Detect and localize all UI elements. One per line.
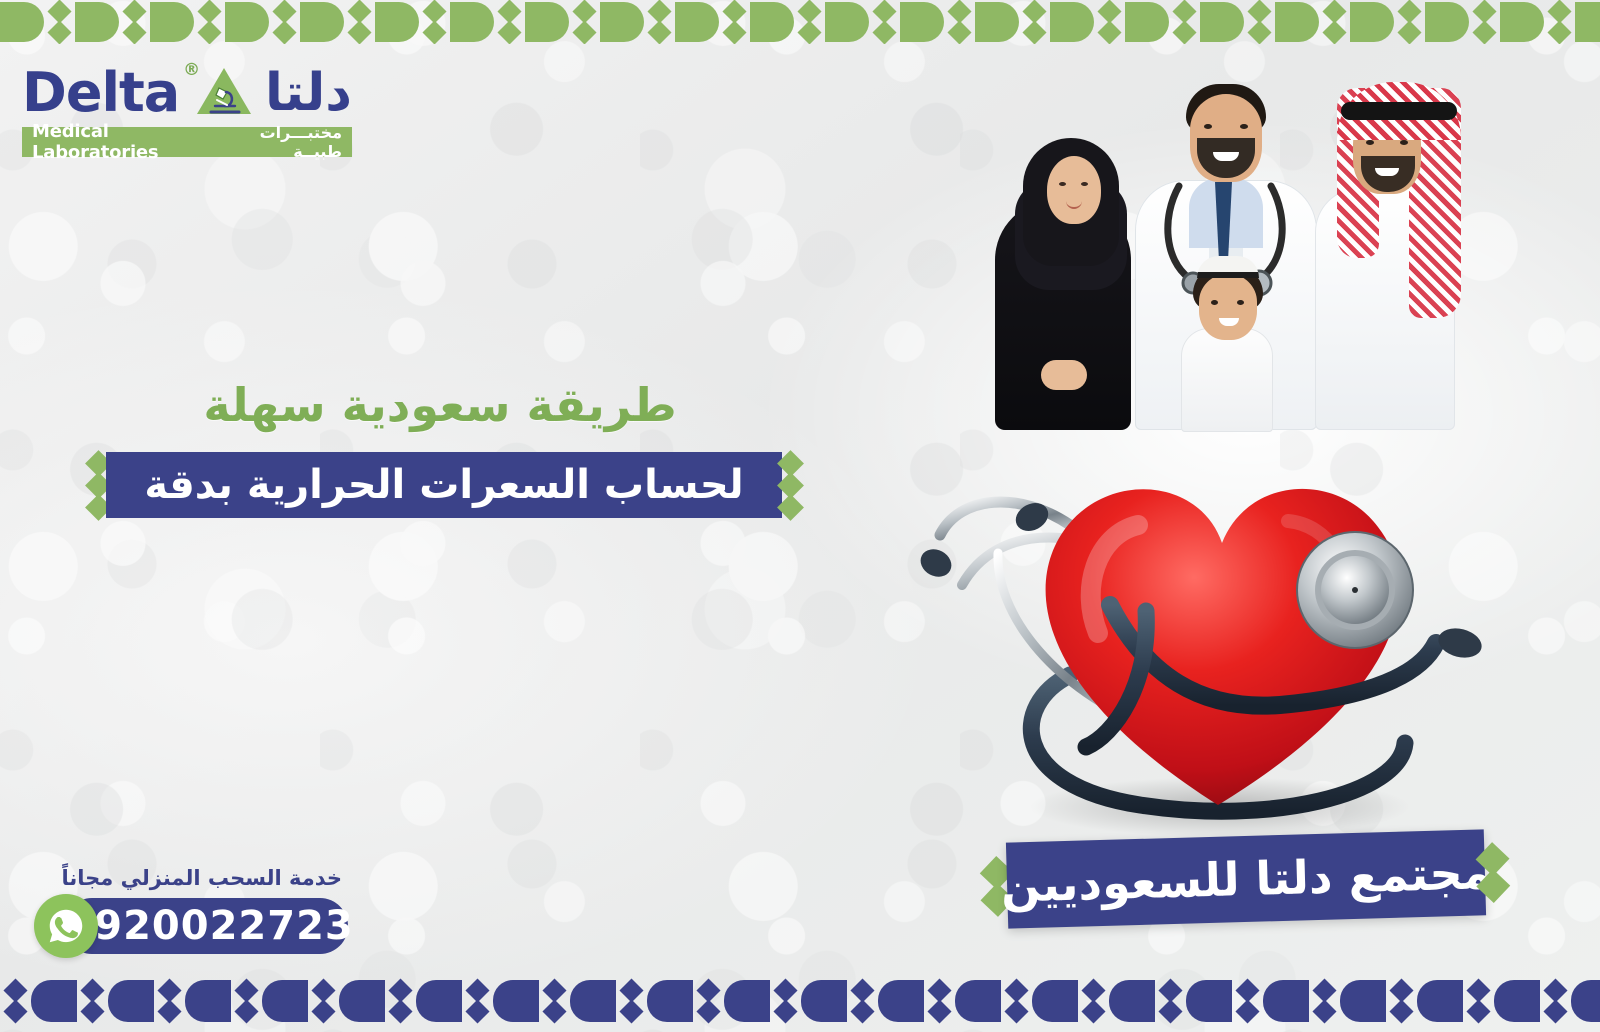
border-motif (1050, 2, 1125, 42)
border-motif (770, 980, 847, 1022)
whatsapp-icon[interactable] (34, 894, 98, 958)
delta-logo[interactable]: Delta ® دلتا Medical Laboratories مختبــ… (22, 62, 352, 157)
border-motif (847, 980, 924, 1022)
border-motif (693, 980, 770, 1022)
bottom-decorative-border (0, 970, 1600, 1032)
border-motif (900, 2, 975, 42)
border-motif (1500, 2, 1575, 42)
border-motif (308, 980, 385, 1022)
border-motif (231, 980, 308, 1022)
banner-diamond-left (88, 452, 108, 518)
border-motif (1425, 2, 1500, 42)
microscope-triangle-icon: ® (189, 64, 255, 122)
border-motif (616, 980, 693, 1022)
border-motif (539, 980, 616, 1022)
border-motif (154, 980, 231, 1022)
border-motif (1125, 2, 1200, 42)
border-motif (1001, 980, 1078, 1022)
phone-number: 920022723 (94, 903, 354, 949)
poster-canvas: Delta ® دلتا Medical Laboratories مختبــ… (0, 0, 1600, 1032)
border-motif (450, 2, 525, 42)
family-and-doctor-photo (985, 60, 1455, 420)
border-motif (1350, 2, 1425, 42)
logo-tagline-en: Medical Laboratories (32, 121, 219, 163)
border-motif (0, 2, 75, 42)
border-motif (225, 2, 300, 42)
border-motif (462, 980, 539, 1022)
border-motif (75, 2, 150, 42)
logo-wordmark-en: Delta (22, 66, 179, 120)
border-motif (0, 980, 77, 1022)
border-motif (300, 2, 375, 42)
border-motif (1540, 980, 1600, 1022)
border-motif (750, 2, 825, 42)
border-motif (1463, 980, 1540, 1022)
border-motif (1232, 980, 1309, 1022)
phone-number-button[interactable]: 920022723 (64, 898, 348, 954)
border-motif (1078, 980, 1155, 1022)
border-motif (1200, 2, 1275, 42)
community-banner: مجتمع دلتا للسعوديين (984, 829, 1506, 929)
logo-wordmark-ar: دلتا (265, 67, 352, 119)
community-banner-diamond-right (1480, 829, 1506, 916)
border-motif (924, 980, 1001, 1022)
woman-in-hijab (1047, 156, 1101, 224)
page-title-line2: لحساب السعرات الحرارية بدقة (144, 462, 743, 508)
border-motif (600, 2, 675, 42)
border-motif (1275, 2, 1350, 42)
border-motif (385, 980, 462, 1022)
headline-banner: لحساب السعرات الحرارية بدقة (88, 452, 800, 518)
logo-tagline-bar: Medical Laboratories مختبـــرات طبيــة (22, 127, 352, 157)
contact-block[interactable]: خدمة السحب المنزلي مجاناً 920022723 (28, 866, 348, 962)
border-motif (150, 2, 225, 42)
border-motif (77, 980, 154, 1022)
page-title-line1: طريقة سعودية سهلة (90, 378, 790, 432)
border-motif (675, 2, 750, 42)
top-decorative-border (0, 0, 1600, 44)
border-motif (825, 2, 900, 42)
red-heart-with-stethoscope (900, 375, 1530, 845)
banner-diamond-right (780, 452, 800, 518)
community-banner-text: مجتمع دلتا للسعوديين (1000, 845, 1492, 913)
border-motif (525, 2, 600, 42)
logo-tagline-ar: مختبـــرات طبيــة (219, 123, 342, 161)
home-service-note: خدمة السحب المنزلي مجاناً (62, 866, 342, 890)
border-motif (1386, 980, 1463, 1022)
border-motif (1575, 2, 1600, 42)
border-motif (375, 2, 450, 42)
border-motif (1155, 980, 1232, 1022)
border-motif (1309, 980, 1386, 1022)
border-motif (975, 2, 1050, 42)
